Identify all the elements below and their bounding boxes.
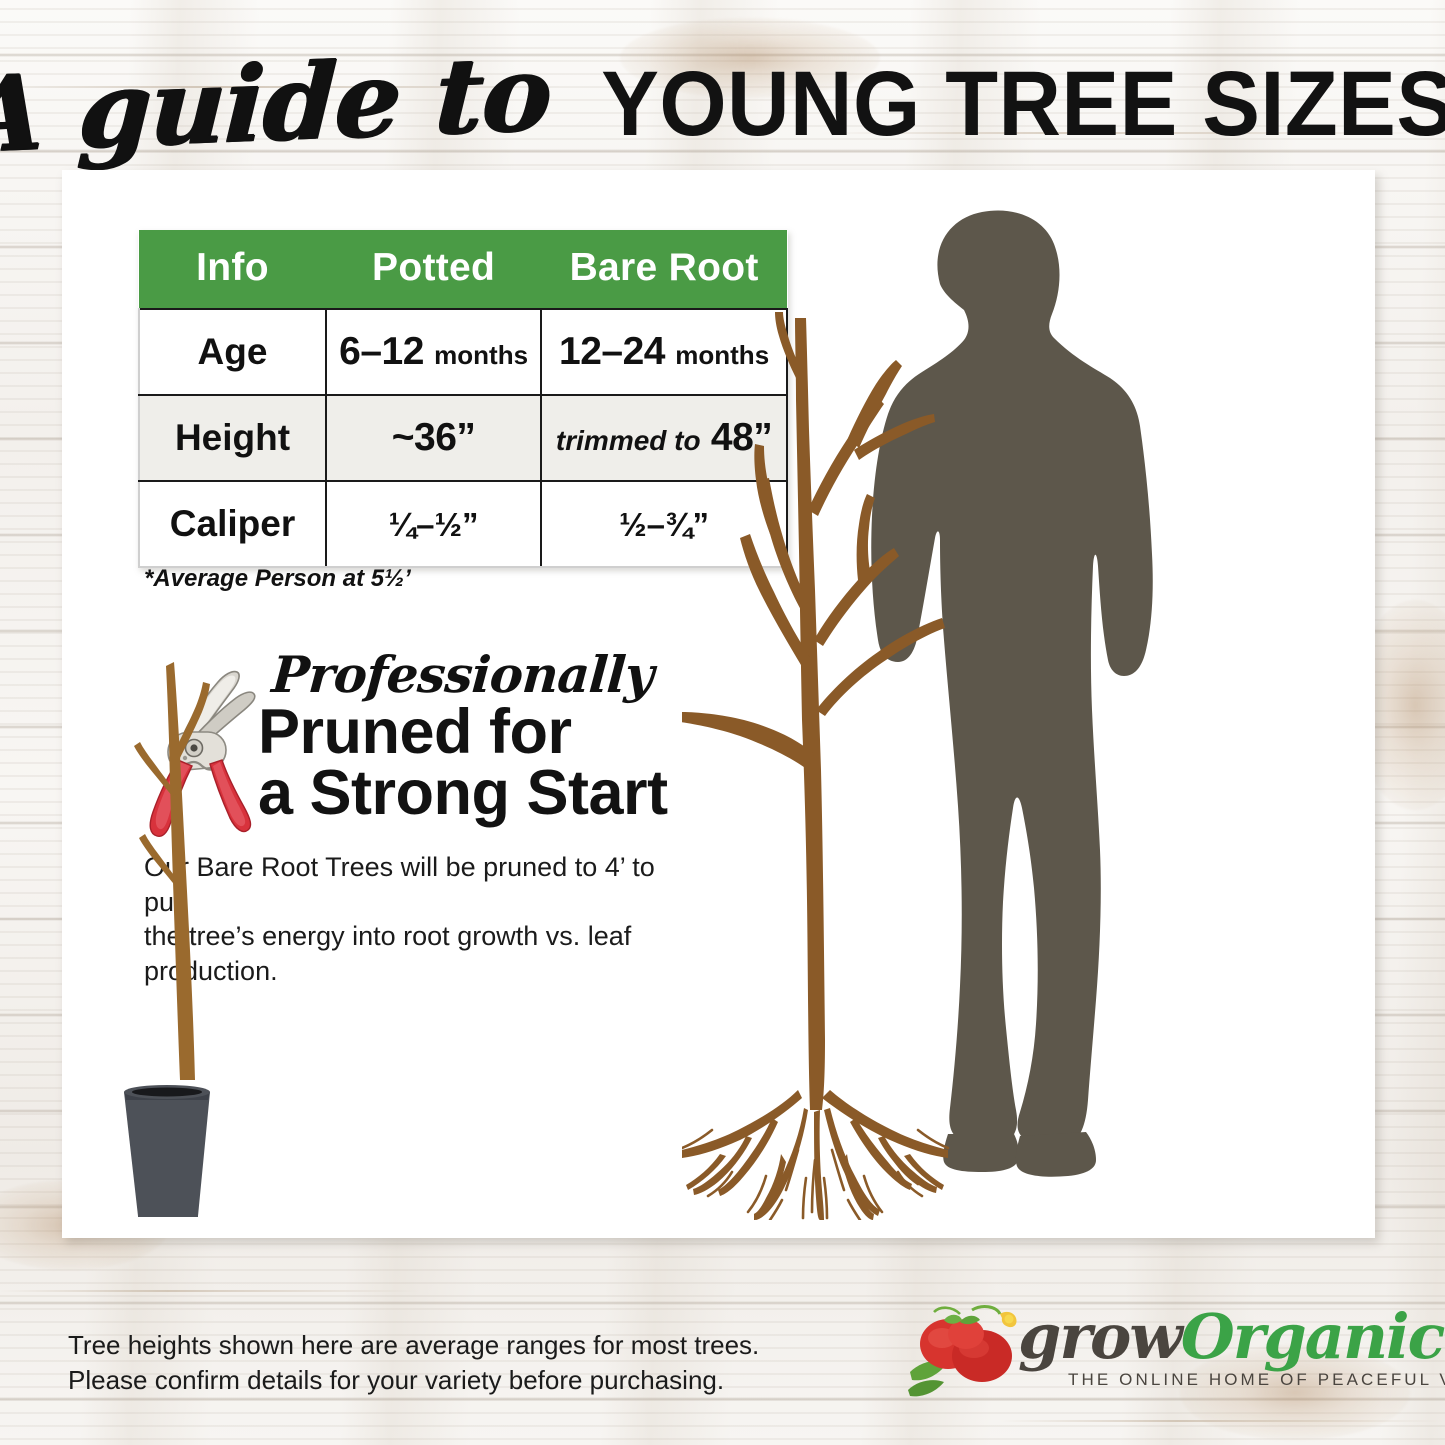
page-title: A guide to YOUNG TREE SIZES [0,44,1445,164]
cell-caliper-potted-value: ¼–½” [389,506,479,543]
cell-age-potted-value: 6–12 [339,330,424,373]
column-header-potted: Potted [326,230,541,309]
tomato-icon [900,1300,1030,1405]
cell-height-potted-value: ~36” [392,416,476,459]
page-title-block: YOUNG TREE SIZES [602,58,1445,150]
cell-height-potted: ~36” [326,395,541,481]
page-title-script: A guide to [0,41,553,168]
footer-disclaimer: Tree heights shown here are average rang… [68,1328,759,1398]
logo-tagline: THE ONLINE HOME OF PEACEFUL VALLEY [1068,1370,1445,1390]
logo-wordmark: growOrganic.COM [1018,1306,1445,1368]
footer-disclaimer-line1: Tree heights shown here are average rang… [68,1328,759,1363]
logo-word-grow: grow [1018,1300,1181,1373]
row-label-height: Height [139,395,326,481]
person-silhouette-icon [871,210,1153,1176]
pruning-script-line: Professionally [270,650,655,700]
wood-grain-streak [0,1290,420,1292]
table-footnote: *Average Person at 5½’ [144,565,411,593]
row-label-caliper: Caliper [139,481,326,567]
pruning-headline-line1: Pruned for [258,702,738,763]
content-card: Info Potted Bare Root Age 6–12 months 12… [62,170,1375,1238]
row-label-age: Age [139,309,326,395]
column-header-info: Info [139,230,326,309]
infographic-poster: A guide to YOUNG TREE SIZES Info Potted … [0,0,1445,1445]
pruning-headline-line2: a Strong Start [258,763,738,824]
cell-age-potted: 6–12 months [326,309,541,395]
footer-disclaimer-line2: Please confirm details for your variety … [68,1363,759,1398]
grow-organic-logo[interactable]: growOrganic.COM THE ONLINE HOME OF PEACE… [900,1300,1400,1410]
tree-comparison-illustration [682,210,1382,1220]
pruning-headline-group: Professionally Pruned for a Strong Start [258,650,738,824]
cell-age-potted-unit: months [434,340,528,370]
cell-age-bareroot-value: 12–24 [559,330,665,373]
potted-tree-illustration [82,600,272,1220]
cell-height-bareroot-prefix: trimmed to [556,425,701,456]
cell-caliper-potted: ¼–½” [326,481,541,567]
logo-word-organic: Organic [1181,1300,1444,1373]
wood-grain-streak [1000,1420,1445,1422]
